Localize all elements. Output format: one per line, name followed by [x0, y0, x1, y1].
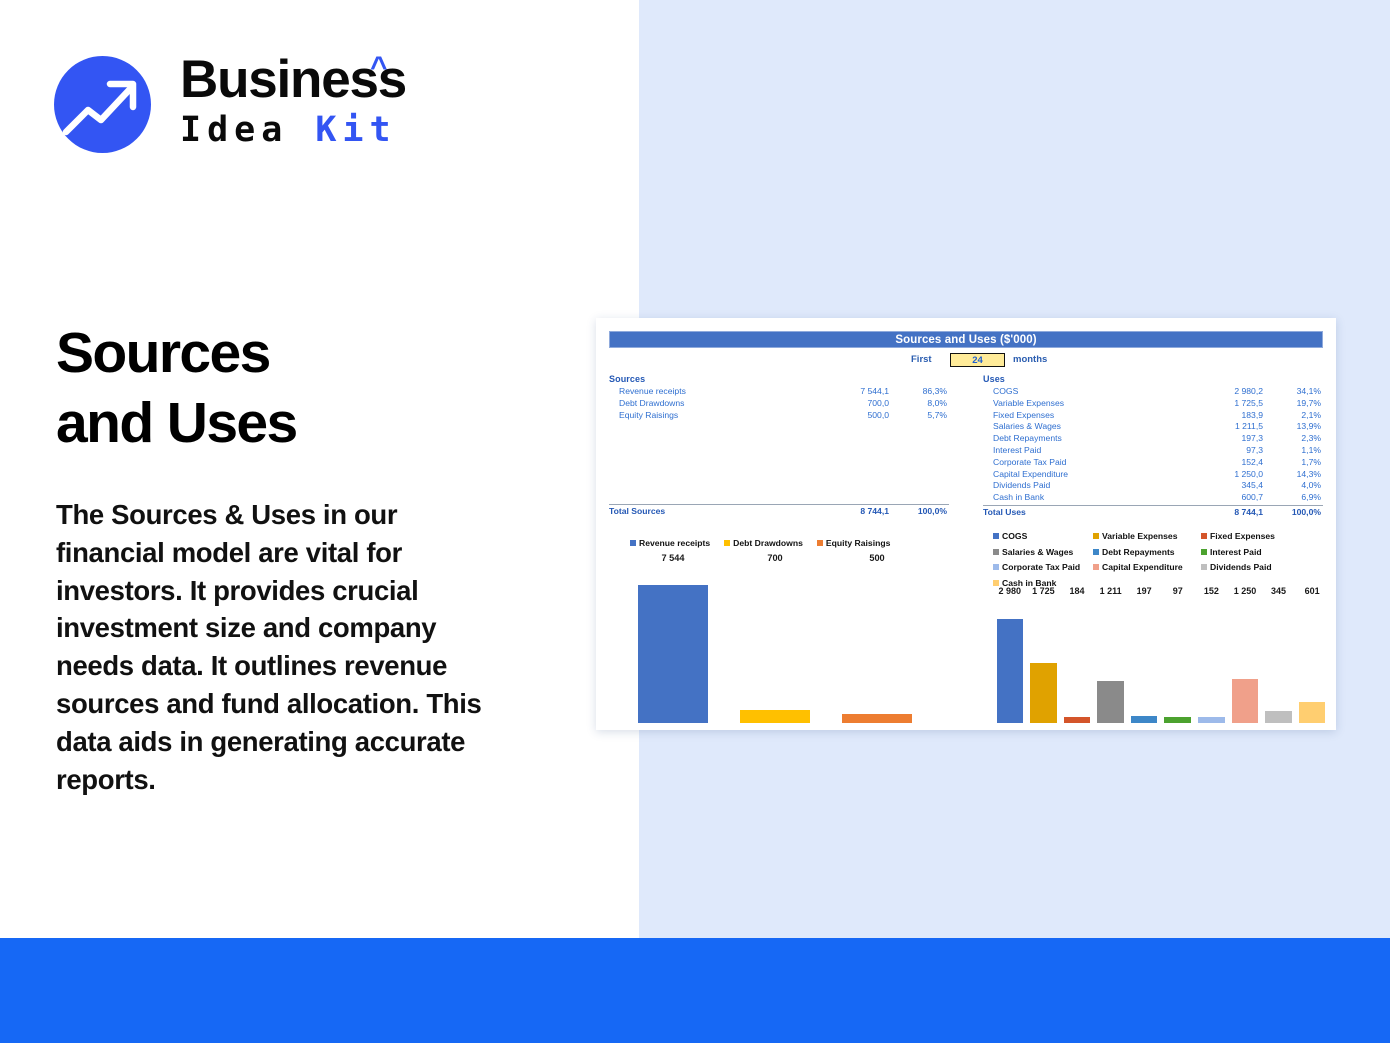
uses-row-label: Variable Expenses — [983, 398, 1183, 410]
bar-value-label: 500 — [869, 553, 884, 563]
bar-group: 700 — [740, 565, 810, 723]
brand-name-primary: Business ^ — [180, 52, 510, 108]
growth-arrow-icon — [54, 56, 151, 153]
table-row: Variable Expenses1 725,519,7% — [983, 398, 1323, 410]
sources-total-value: 8 744,1 — [809, 505, 889, 518]
uses-row-pct: 14,3% — [1263, 469, 1321, 481]
uses-row-value: 600,7 — [1183, 492, 1263, 504]
legend-label: Variable Expenses — [1102, 531, 1177, 541]
bar-group: 601 — [1299, 598, 1326, 723]
uses-row-label: Interest Paid — [983, 445, 1183, 457]
uses-row-value: 345,4 — [1183, 480, 1263, 492]
bar-value-label: 1 725 — [1032, 586, 1055, 596]
period-control-row: First 24 months — [609, 353, 1323, 369]
bar-value-label: 1 250 — [1234, 586, 1257, 596]
sources-row-pct: 5,7% — [889, 410, 947, 422]
bar-group: 1 211 — [1097, 598, 1124, 723]
uses-row-value: 97,3 — [1183, 445, 1263, 457]
legend-item: Dividends Paid — [1201, 562, 1301, 572]
sources-chart-legend: Revenue receiptsDebt DrawdownsEquity Rai… — [630, 538, 904, 548]
bar-value-label: 7 544 — [662, 553, 685, 563]
uses-row-value: 183,9 — [1183, 410, 1263, 422]
table-row: Salaries & Wages1 211,513,9% — [983, 421, 1323, 433]
uses-row-value: 1 725,5 — [1183, 398, 1263, 410]
circumflex-accent-icon: ^ — [370, 53, 386, 83]
table-row: Dividends Paid345,44,0% — [983, 480, 1323, 492]
sources-row-value: 500,0 — [809, 410, 889, 422]
bar: 345 — [1265, 711, 1292, 723]
sources-row-value: 7 544,1 — [809, 386, 889, 398]
uses-row-label: COGS — [983, 386, 1183, 398]
table-row: Debt Repayments197,32,3% — [983, 433, 1323, 445]
months-input-cell[interactable]: 24 — [950, 353, 1005, 367]
legend-item: Interest Paid — [1201, 547, 1301, 557]
brand-logo: Business ^ Idea Kit — [54, 52, 454, 157]
sources-total-label: Total Sources — [609, 505, 809, 518]
legend-swatch-icon — [1201, 549, 1207, 555]
legend-label: Interest Paid — [1210, 547, 1262, 557]
uses-row-label: Salaries & Wages — [983, 421, 1183, 433]
bar: 97 — [1164, 717, 1191, 723]
bar: 184 — [1064, 717, 1091, 723]
legend-item: Capital Expenditure — [1093, 562, 1201, 572]
bar-group: 97 — [1164, 598, 1191, 723]
period-prefix-label: First — [911, 354, 932, 365]
uses-table-header: Uses — [983, 374, 1323, 386]
page-description: The Sources & Uses in our financial mode… — [56, 496, 506, 798]
legend-label: Corporate Tax Paid — [1002, 562, 1080, 572]
sources-table: Sources Revenue receipts7 544,186,3%Debt… — [609, 374, 949, 518]
bar-group: 500 — [842, 565, 912, 723]
uses-row-label: Capital Expenditure — [983, 469, 1183, 481]
uses-table: Uses COGS2 980,234,1%Variable Expenses1 … — [983, 374, 1323, 519]
table-row: Fixed Expenses183,92,1% — [983, 410, 1323, 422]
slide-canvas: Business ^ Idea Kit Sources and Uses The… — [0, 0, 1390, 1043]
sheet-title-bar: Sources and Uses ($'000) — [609, 331, 1323, 348]
legend-item: Equity Raisings — [817, 538, 890, 548]
uses-row-value: 1 250,0 — [1183, 469, 1263, 481]
uses-bar-chart: 2 9801 7251841 211197971521 250345601 — [993, 598, 1329, 723]
bar: 601 — [1299, 702, 1326, 723]
legend-label: Salaries & Wages — [1002, 547, 1073, 557]
legend-swatch-icon — [1093, 549, 1099, 555]
uses-row-pct: 2,3% — [1263, 433, 1321, 445]
uses-row-value: 197,3 — [1183, 433, 1263, 445]
legend-item: Debt Drawdowns — [724, 538, 803, 548]
bar-value-label: 1 211 — [1100, 586, 1122, 596]
legend-item: Corporate Tax Paid — [993, 562, 1093, 572]
bar-value-label: 601 — [1305, 586, 1320, 596]
uses-rows: COGS2 980,234,1%Variable Expenses1 725,5… — [983, 386, 1323, 504]
uses-row-value: 152,4 — [1183, 457, 1263, 469]
uses-row-pct: 13,9% — [1263, 421, 1321, 433]
sources-rows: Revenue receipts7 544,186,3%Debt Drawdow… — [609, 386, 949, 421]
legend-swatch-icon — [993, 580, 999, 586]
uses-total-value: 8 744,1 — [1183, 506, 1263, 519]
legend-item: Salaries & Wages — [993, 547, 1093, 557]
bar: 197 — [1131, 716, 1158, 723]
legend-swatch-icon — [993, 564, 999, 570]
table-row: Equity Raisings500,05,7% — [609, 410, 949, 422]
sources-row-pct: 86,3% — [889, 386, 947, 398]
brand-name-idea: Idea — [180, 110, 315, 150]
sources-bar-chart: 7 544700500 — [622, 565, 928, 723]
legend-label: Dividends Paid — [1210, 562, 1272, 572]
bar: 152 — [1198, 717, 1225, 723]
legend-item: Revenue receipts — [630, 538, 710, 548]
bar-value-label: 197 — [1137, 586, 1152, 596]
sources-row-label: Revenue receipts — [609, 386, 809, 398]
bar: 1 250 — [1232, 679, 1259, 723]
uses-row-label: Fixed Expenses — [983, 410, 1183, 422]
sources-row-label: Debt Drawdowns — [609, 398, 809, 410]
uses-row-label: Debt Repayments — [983, 433, 1183, 445]
legend-label: Capital Expenditure — [1102, 562, 1183, 572]
uses-row-pct: 6,9% — [1263, 492, 1321, 504]
sources-row-value: 700,0 — [809, 398, 889, 410]
legend-item: COGS — [993, 531, 1093, 541]
legend-swatch-icon — [1201, 533, 1207, 539]
bar: 2 980 — [997, 619, 1024, 723]
bar-group: 1 250 — [1232, 598, 1259, 723]
legend-label: Debt Repayments — [1102, 547, 1175, 557]
legend-swatch-icon — [1093, 564, 1099, 570]
bar-value-label: 152 — [1204, 586, 1219, 596]
legend-swatch-icon — [1093, 533, 1099, 539]
bar-group: 184 — [1064, 598, 1091, 723]
legend-item: Variable Expenses — [1093, 531, 1201, 541]
uses-row-pct: 34,1% — [1263, 386, 1321, 398]
table-row: COGS2 980,234,1% — [983, 386, 1323, 398]
legend-swatch-icon — [1201, 564, 1207, 570]
uses-row-pct: 4,0% — [1263, 480, 1321, 492]
uses-row-label: Cash in Bank — [983, 492, 1183, 504]
uses-row-label: Dividends Paid — [983, 480, 1183, 492]
brand-name-kit: Kit — [315, 110, 396, 150]
bar: 1 211 — [1097, 681, 1124, 723]
legend-item: Fixed Expenses — [1201, 531, 1301, 541]
legend-label: COGS — [1002, 531, 1027, 541]
bar-value-label: 97 — [1173, 586, 1183, 596]
table-row: Corporate Tax Paid152,41,7% — [983, 457, 1323, 469]
sources-row-pct: 8,0% — [889, 398, 947, 410]
bar: 700 — [740, 710, 810, 723]
sources-total-pct: 100,0% — [889, 505, 947, 518]
sources-table-spacer — [609, 421, 949, 503]
legend-label: Debt Drawdowns — [733, 538, 803, 548]
bar-value-label: 2 980 — [999, 586, 1022, 596]
bar: 500 — [842, 714, 912, 723]
page-title: Sources and Uses — [56, 318, 586, 458]
uses-row-pct: 1,1% — [1263, 445, 1321, 457]
uses-row-pct: 2,1% — [1263, 410, 1321, 422]
bar-group: 7 544 — [638, 565, 708, 723]
table-row: Interest Paid97,31,1% — [983, 445, 1323, 457]
bar: 1 725 — [1030, 663, 1057, 723]
bar-value-label: 700 — [767, 553, 782, 563]
uses-total-label: Total Uses — [983, 506, 1183, 519]
bar-group: 345 — [1265, 598, 1292, 723]
bar-value-label: 345 — [1271, 586, 1286, 596]
table-row: Debt Drawdowns700,08,0% — [609, 398, 949, 410]
legend-swatch-icon — [993, 533, 999, 539]
legend-swatch-icon — [724, 540, 730, 546]
uses-row-pct: 1,7% — [1263, 457, 1321, 469]
legend-label: Revenue receipts — [639, 538, 710, 548]
legend-label: Fixed Expenses — [1210, 531, 1275, 541]
uses-row-value: 1 211,5 — [1183, 421, 1263, 433]
brand-name-secondary: Idea Kit — [180, 108, 510, 152]
legend-swatch-icon — [817, 540, 823, 546]
bar: 7 544 — [638, 585, 708, 723]
uses-row-label: Corporate Tax Paid — [983, 457, 1183, 469]
sources-total-row: Total Sources 8 744,1 100,0% — [609, 505, 949, 518]
bar-value-label: 184 — [1069, 586, 1084, 596]
period-unit-label: months — [1013, 354, 1047, 365]
bar-group: 2 980 — [997, 598, 1024, 723]
sources-row-label: Equity Raisings — [609, 410, 809, 422]
uses-row-pct: 19,7% — [1263, 398, 1321, 410]
bottom-accent-band — [0, 938, 1390, 1043]
uses-row-value: 2 980,2 — [1183, 386, 1263, 398]
uses-chart-legend: COGSVariable ExpensesFixed ExpensesSalar… — [993, 531, 1313, 588]
legend-swatch-icon — [993, 549, 999, 555]
bar-group: 152 — [1198, 598, 1225, 723]
legend-item: Debt Repayments — [1093, 547, 1201, 557]
bar-group: 197 — [1131, 598, 1158, 723]
sources-table-header: Sources — [609, 374, 949, 386]
table-row: Revenue receipts7 544,186,3% — [609, 386, 949, 398]
legend-swatch-icon — [630, 540, 636, 546]
bar-group: 1 725 — [1030, 598, 1057, 723]
legend-label: Equity Raisings — [826, 538, 890, 548]
table-row: Capital Expenditure1 250,014,3% — [983, 469, 1323, 481]
table-row: Cash in Bank600,76,9% — [983, 492, 1323, 504]
uses-total-row: Total Uses 8 744,1 100,0% — [983, 506, 1323, 519]
uses-total-pct: 100,0% — [1263, 506, 1321, 519]
